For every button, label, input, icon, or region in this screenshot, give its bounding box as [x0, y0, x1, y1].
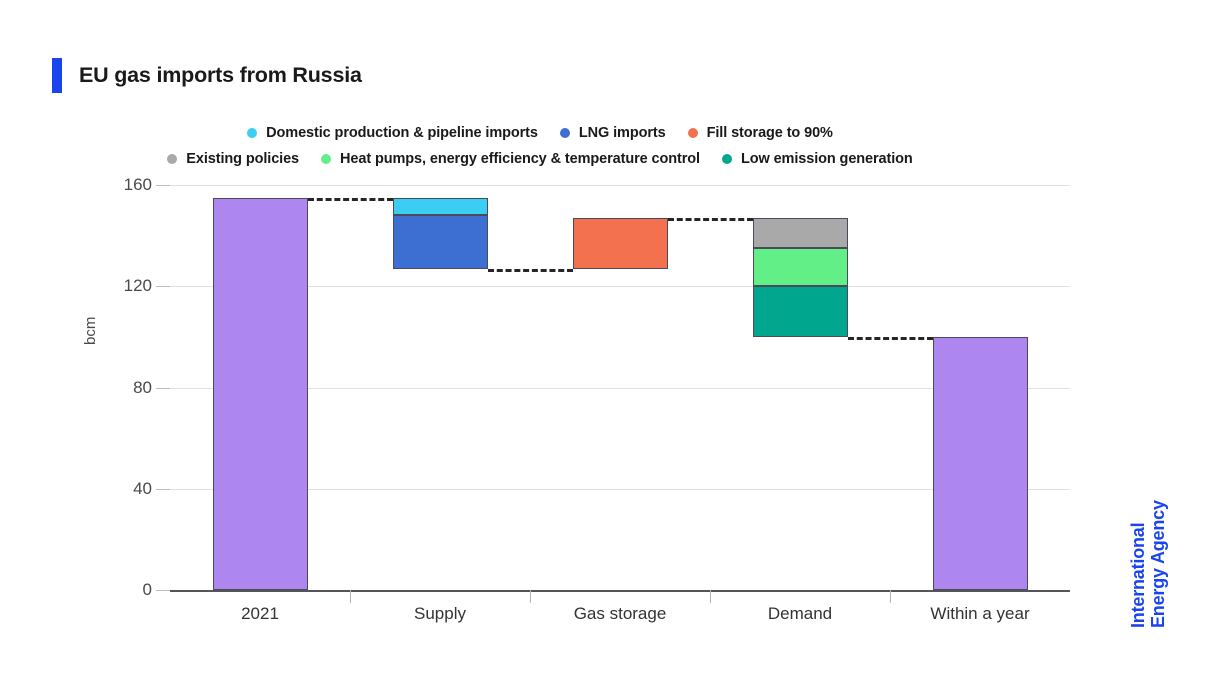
waterfall-connector	[488, 269, 573, 272]
bar-segment	[573, 218, 668, 269]
y-tick-label: 40	[92, 479, 152, 499]
bar-segment	[393, 198, 488, 216]
y-tick-mark	[156, 286, 170, 287]
y-axis-title: bcm	[82, 317, 99, 345]
legend-item-existing-policies[interactable]: Existing policies	[167, 151, 299, 167]
gridline	[170, 185, 1070, 186]
title-accent-bar	[52, 58, 62, 93]
waterfall-connector	[848, 337, 933, 340]
iea-branding: International Energy Agency	[1128, 500, 1168, 628]
bar-segment	[753, 286, 848, 337]
x-tick-mark	[710, 590, 711, 603]
bar-segment	[213, 198, 308, 590]
branding-line-2: Energy Agency	[1148, 500, 1168, 628]
x-tick-label: Within a year	[930, 604, 1029, 624]
y-tick-mark	[156, 590, 170, 591]
x-tick-label: 2021	[241, 604, 279, 624]
legend-swatch-icon	[722, 154, 732, 164]
legend-item-domestic-production[interactable]: Domestic production & pipeline imports	[247, 125, 538, 141]
plot-area: 04080120160 2021SupplyGas storageDemandW…	[170, 185, 1070, 590]
y-tick-mark	[156, 185, 170, 186]
bar-segment	[933, 337, 1028, 590]
page-title: EU gas imports from Russia	[52, 57, 362, 93]
x-tick-mark	[890, 590, 891, 603]
bar-segment	[753, 248, 848, 286]
bar-segment	[753, 218, 848, 248]
waterfall-connector	[668, 218, 753, 221]
legend-label: Fill storage to 90%	[707, 125, 833, 141]
y-tick-label: 80	[92, 378, 152, 398]
x-tick-label: Gas storage	[574, 604, 667, 624]
branding-line-1: International	[1128, 500, 1148, 628]
legend-swatch-icon	[167, 154, 177, 164]
legend-swatch-icon	[688, 128, 698, 138]
chart-legend: Domestic production & pipeline imports L…	[0, 120, 1080, 172]
x-tick-label: Demand	[768, 604, 832, 624]
legend-item-heat-pumps[interactable]: Heat pumps, energy efficiency & temperat…	[321, 151, 700, 167]
gridline	[170, 590, 1070, 592]
x-tick-mark	[530, 590, 531, 603]
waterfall-connector	[308, 198, 393, 201]
legend-swatch-icon	[247, 128, 257, 138]
legend-label: Domestic production & pipeline imports	[266, 125, 538, 141]
y-tick-mark	[156, 388, 170, 389]
chart-title: EU gas imports from Russia	[79, 63, 362, 88]
x-tick-mark	[350, 590, 351, 603]
legend-swatch-icon	[560, 128, 570, 138]
legend-label: Heat pumps, energy efficiency & temperat…	[340, 151, 700, 167]
y-tick-mark	[156, 489, 170, 490]
legend-item-lng-imports[interactable]: LNG imports	[560, 125, 666, 141]
y-tick-label: 160	[92, 175, 152, 195]
bar-segment	[393, 215, 488, 268]
y-tick-label: 120	[92, 276, 152, 296]
x-tick-label: Supply	[414, 604, 466, 624]
y-tick-label: 0	[92, 580, 152, 600]
legend-label: LNG imports	[579, 125, 666, 141]
legend-label: Low emission generation	[741, 151, 913, 167]
legend-row-2: Existing policies Heat pumps, energy eff…	[0, 146, 1080, 172]
legend-item-fill-storage[interactable]: Fill storage to 90%	[688, 125, 833, 141]
legend-label: Existing policies	[186, 151, 299, 167]
legend-item-low-emission[interactable]: Low emission generation	[722, 151, 913, 167]
legend-swatch-icon	[321, 154, 331, 164]
legend-row-1: Domestic production & pipeline imports L…	[0, 120, 1080, 146]
